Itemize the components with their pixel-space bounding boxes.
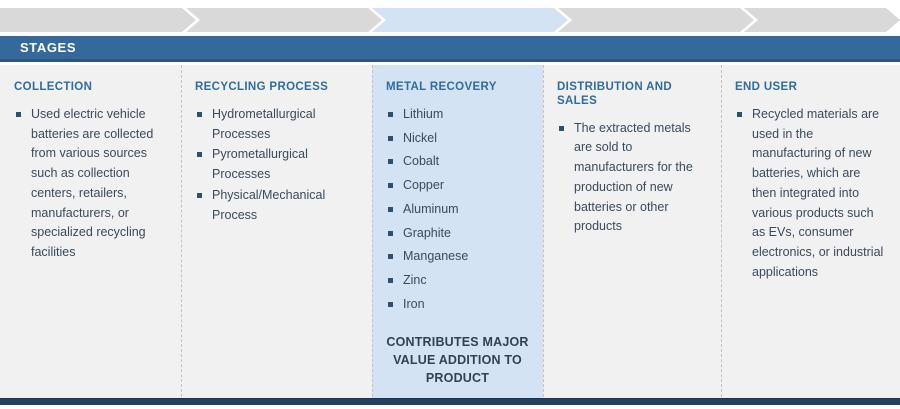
square-bullet-icon <box>16 112 21 117</box>
list-item: Cobalt <box>386 152 529 172</box>
square-bullet-icon <box>388 207 393 212</box>
stage-column-end-user: END USER Recycled materials are used in … <box>721 65 900 402</box>
value-addition-callout: CONTRIBUTES MAJOR VALUE ADDITION TO PROD… <box>386 333 529 387</box>
list-item-text: Used electric vehicle batteries are coll… <box>31 107 153 259</box>
square-bullet-icon <box>197 152 202 157</box>
list-item-text: Iron <box>403 297 425 311</box>
list-item: Manganese <box>386 247 529 267</box>
square-bullet-icon <box>388 136 393 141</box>
square-bullet-icon <box>388 183 393 188</box>
stages-diagram: STAGES COLLECTION Used electric vehicle … <box>0 0 900 409</box>
process-chevron-band <box>0 8 900 32</box>
stage-columns: COLLECTION Used electric vehicle batteri… <box>0 65 900 402</box>
stage-title-distribution-and-sales: DISTRIBUTION AND SALES <box>557 81 707 109</box>
list-item-text: Physical/Mechanical Process <box>212 188 325 222</box>
list-item: Used electric vehicle batteries are coll… <box>14 105 167 263</box>
stage-title-collection: COLLECTION <box>14 81 167 95</box>
column-divider <box>181 65 182 402</box>
stages-header-bar: STAGES <box>0 36 900 62</box>
list-item-text: Copper <box>403 178 444 192</box>
stage-list-distribution-and-sales: The extracted metals are sold to manufac… <box>557 119 707 238</box>
list-item: Recycled materials are used in the manuf… <box>735 105 886 283</box>
stage-column-recycling-process: RECYCLING PROCESS Hydrometallurgical Pro… <box>181 65 372 402</box>
chevron-collection <box>0 8 196 32</box>
list-item-text: Aluminum <box>403 202 459 216</box>
square-bullet-icon <box>388 302 393 307</box>
stage-list-metal-recovery: Lithium Nickel Cobalt Copper Aluminum Gr… <box>386 105 529 315</box>
column-divider <box>721 65 722 402</box>
list-item-text: Cobalt <box>403 154 439 168</box>
chevron-metal-recovery <box>372 8 568 32</box>
stage-title-end-user: END USER <box>735 81 886 95</box>
square-bullet-icon <box>388 231 393 236</box>
list-item-text: Zinc <box>403 273 427 287</box>
column-divider <box>372 65 373 402</box>
chevron-end-user <box>744 8 900 32</box>
list-item-text: Pyrometallurgical Processes <box>212 147 308 181</box>
square-bullet-icon <box>559 126 564 131</box>
list-item: Physical/Mechanical Process <box>195 186 358 226</box>
list-item-text: Nickel <box>403 131 437 145</box>
stage-title-recycling-process: RECYCLING PROCESS <box>195 81 358 95</box>
bottom-rule <box>0 398 900 405</box>
square-bullet-icon <box>388 112 393 117</box>
square-bullet-icon <box>197 112 202 117</box>
list-item: Hydrometallurgical Processes <box>195 105 358 145</box>
square-bullet-icon <box>388 278 393 283</box>
chevron-distribution-and-sales <box>558 8 754 32</box>
stage-title-metal-recovery: METAL RECOVERY <box>386 81 529 95</box>
list-item: Zinc <box>386 271 529 291</box>
list-item-text: Lithium <box>403 107 443 121</box>
stage-list-collection: Used electric vehicle batteries are coll… <box>14 105 167 263</box>
list-item: Iron <box>386 295 529 315</box>
stage-column-collection: COLLECTION Used electric vehicle batteri… <box>0 65 181 402</box>
column-divider <box>543 65 544 402</box>
list-item: Pyrometallurgical Processes <box>195 145 358 185</box>
list-item-text: Hydrometallurgical Processes <box>212 107 316 141</box>
chevron-recycling-process <box>186 8 382 32</box>
stage-list-end-user: Recycled materials are used in the manuf… <box>735 105 886 283</box>
stage-column-distribution-and-sales: DISTRIBUTION AND SALES The extracted met… <box>543 65 721 402</box>
list-item: The extracted metals are sold to manufac… <box>557 119 707 238</box>
list-item-text: Recycled materials are used in the manuf… <box>752 107 883 279</box>
square-bullet-icon <box>737 112 742 117</box>
list-item: Nickel <box>386 129 529 149</box>
list-item: Lithium <box>386 105 529 125</box>
list-item-text: The extracted metals are sold to manufac… <box>574 121 693 234</box>
stage-list-recycling-process: Hydrometallurgical Processes Pyrometallu… <box>195 105 358 226</box>
list-item-text: Graphite <box>403 226 451 240</box>
square-bullet-icon <box>197 193 202 198</box>
list-item: Copper <box>386 176 529 196</box>
list-item: Aluminum <box>386 200 529 220</box>
stages-label: STAGES <box>20 40 76 55</box>
list-item: Graphite <box>386 224 529 244</box>
square-bullet-icon <box>388 254 393 259</box>
list-item-text: Manganese <box>403 249 468 263</box>
stage-column-metal-recovery: METAL RECOVERY Lithium Nickel Cobalt Cop… <box>372 65 543 402</box>
square-bullet-icon <box>388 159 393 164</box>
